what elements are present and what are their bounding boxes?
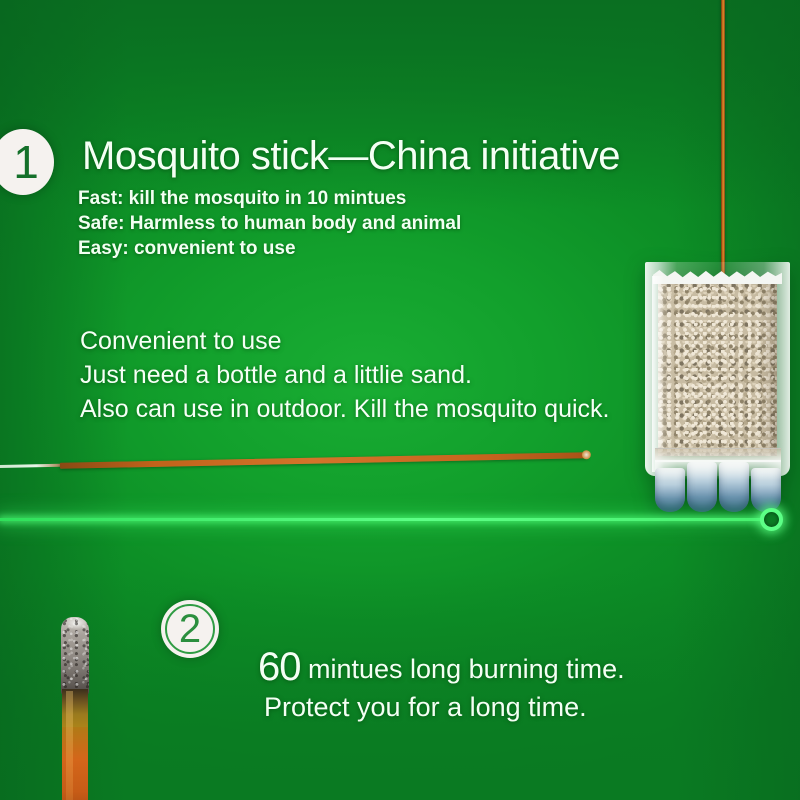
- usage-line-bottle-sand: Just need a bottle and a littlie sand.: [80, 358, 609, 392]
- mosquito-stick-product-image: [0, 450, 588, 472]
- burning-time-value: 60: [258, 645, 301, 689]
- usage-description: Convenient to use Just need a bottle and…: [80, 324, 609, 426]
- protection-duration-line: Protect you for a long time.: [258, 688, 625, 726]
- plastic-bottle-with-sand-image: [645, 262, 790, 512]
- feature-bullet-list: Fast: kill the mosquito in 10 mintues Sa…: [78, 186, 461, 261]
- step-badge-one-number: 1: [13, 139, 39, 185]
- mosquito-stick-in-bottle-icon: [721, 0, 725, 276]
- promo-banner: 1 Mosquito stick—China initiative Fast: …: [0, 0, 800, 800]
- step-badge-two: 2: [161, 600, 219, 658]
- mosquito-stick-tip: [0, 464, 66, 468]
- burning-time-description: 60 mintues long burning time. Protect yo…: [258, 648, 625, 726]
- bottle-base-shade: [655, 460, 781, 480]
- feature-bullet-fast: Fast: kill the mosquito in 10 mintues: [78, 186, 461, 211]
- bottle-base: [655, 460, 781, 512]
- section-divider-line: [0, 518, 772, 521]
- step-badge-one: 1: [0, 129, 54, 195]
- mosquito-stick-end: [582, 450, 591, 459]
- bottle-sand-fill: [658, 278, 777, 456]
- page-title: Mosquito stick—China initiative: [82, 134, 620, 179]
- feature-bullet-safe: Safe: Harmless to human body and animal: [78, 211, 461, 236]
- bottle-highlight: [652, 276, 664, 472]
- feature-bullet-easy: Easy: convenient to use: [78, 236, 461, 261]
- burning-stick-highlight: [66, 691, 73, 800]
- usage-line-outdoor: Also can use in outdoor. Kill the mosqui…: [80, 392, 609, 426]
- burning-stick-ash: [61, 617, 89, 695]
- mosquito-stick-body: [60, 452, 588, 469]
- burning-time-line: 60 mintues long burning time.: [258, 648, 625, 688]
- usage-line-heading: Convenient to use: [80, 324, 609, 358]
- burning-mosquito-stick-image: [57, 617, 91, 800]
- step-badge-two-number: 2: [179, 609, 201, 649]
- burning-time-unit-text: mintues long burning time.: [301, 654, 625, 684]
- section-divider-node-icon: [760, 508, 783, 531]
